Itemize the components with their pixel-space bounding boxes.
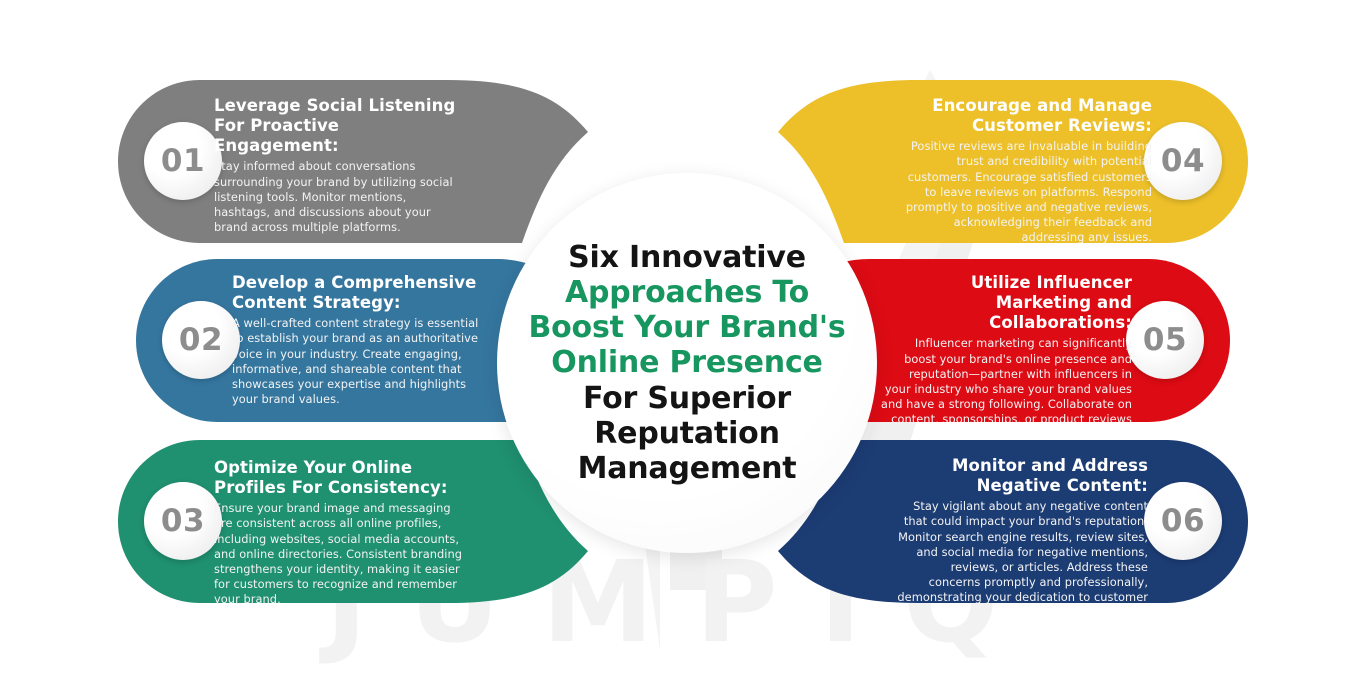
step-number-02: 02 <box>179 325 223 356</box>
infographic-canvas: JUMPIQ 01 Leverage Social Listening For … <box>0 0 1366 692</box>
page-title-part2: Approaches To Boost Your Brand's Online … <box>528 275 845 380</box>
step-body-04: Positive reviews are invaluable in build… <box>904 139 1152 243</box>
step-title-06: Monitor and Address Negative Content: <box>896 456 1148 496</box>
step-number-04: 04 <box>1161 146 1205 177</box>
step-card-01[interactable]: 01 Leverage Social Listening For Proacti… <box>118 80 588 243</box>
step-number-05: 05 <box>1143 325 1187 356</box>
page-title-part3: For Superior Reputation Management <box>578 381 797 486</box>
step-title-02: Develop a Comprehensive Content Strategy… <box>232 273 482 313</box>
step-body-03: Ensure your brand image and messaging ar… <box>214 501 470 603</box>
step-body-05: Influencer marketing can significantly b… <box>880 336 1132 422</box>
center-hub: Six Innovative Approaches To Boost Your … <box>497 173 877 553</box>
step-number-badge-04: 04 <box>1144 122 1222 200</box>
step-title-05: Utilize Influencer Marketing and Collabo… <box>880 273 1132 333</box>
page-title-part1: Six Innovative <box>568 240 806 275</box>
step-number-03: 03 <box>161 506 205 537</box>
step-number-badge-06: 06 <box>1144 482 1222 560</box>
step-number-01: 01 <box>161 146 205 177</box>
step-body-01: Stay informed about conversations surrou… <box>214 159 462 235</box>
step-number-06: 06 <box>1161 506 1205 537</box>
step-body-02: A well-crafted content strategy is essen… <box>232 316 482 407</box>
step-number-badge-03: 03 <box>144 482 222 560</box>
step-card-04[interactable]: 04 Encourage and Manage Customer Reviews… <box>778 80 1248 243</box>
step-body-06: Stay vigilant about any negative content… <box>896 499 1148 603</box>
step-number-badge-01: 01 <box>144 122 222 200</box>
step-title-04: Encourage and Manage Customer Reviews: <box>904 96 1152 136</box>
step-number-badge-05: 05 <box>1126 301 1204 379</box>
page-title: Six Innovative Approaches To Boost Your … <box>522 240 852 486</box>
step-number-badge-02: 02 <box>162 301 240 379</box>
step-title-03: Optimize Your Online Profiles For Consis… <box>214 458 470 498</box>
step-title-01: Leverage Social Listening For Proactive … <box>214 96 462 156</box>
